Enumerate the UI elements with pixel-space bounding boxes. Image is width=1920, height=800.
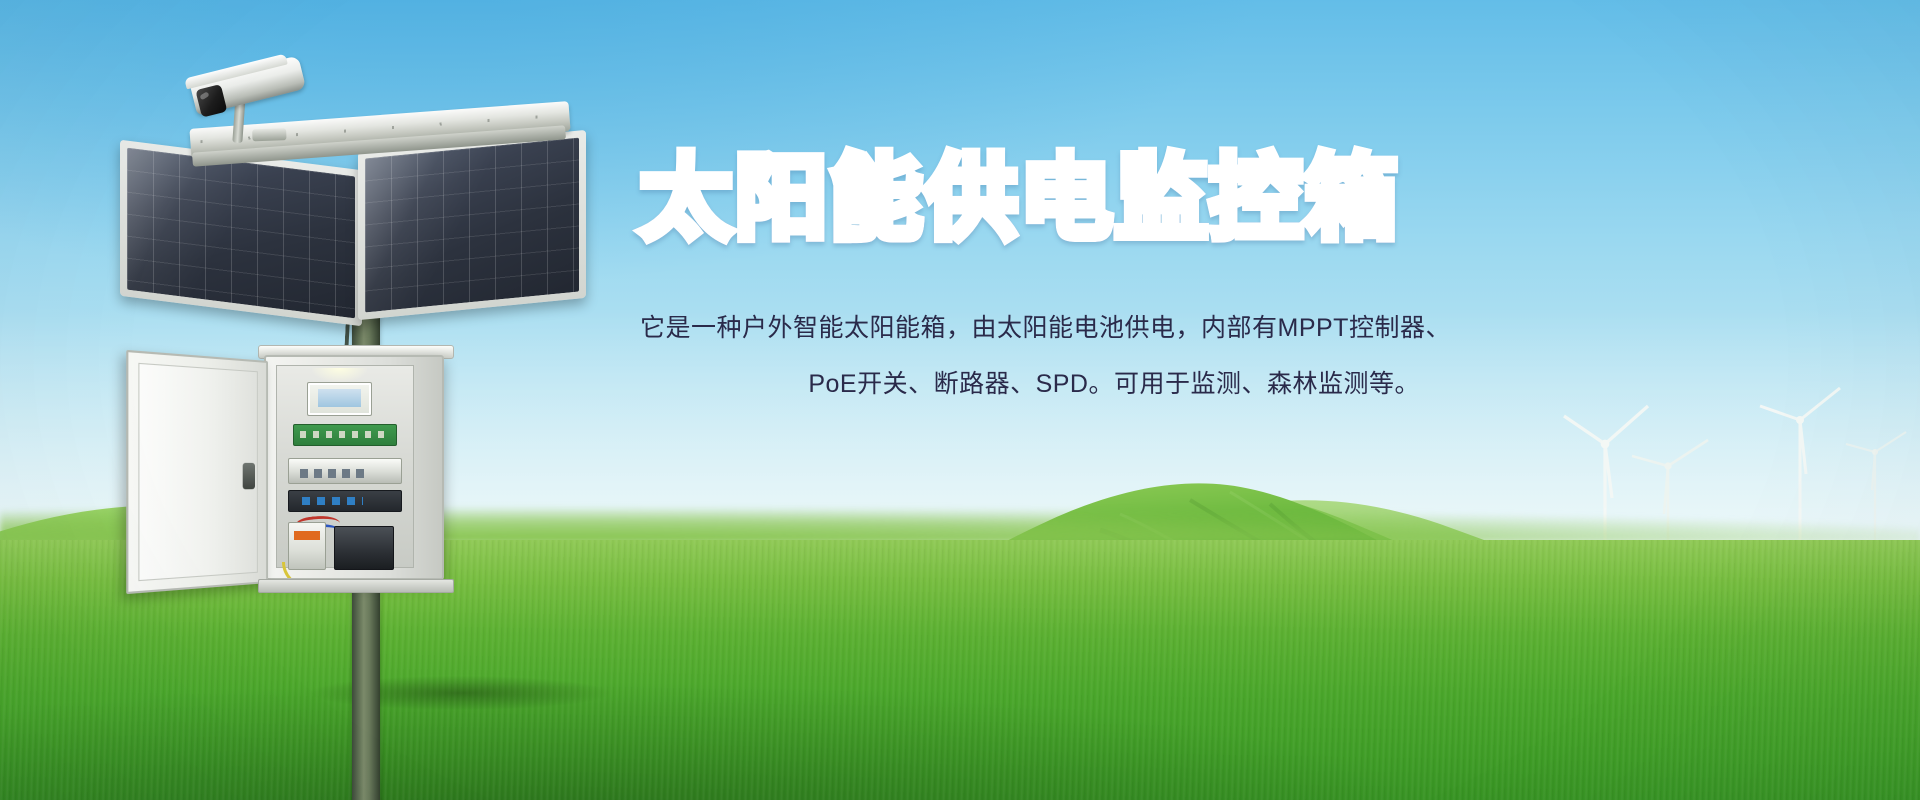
camera-bracket	[252, 128, 286, 141]
subtitle-line-2: PoE开关、断路器、SPD。可用于监测、森林监测等。	[640, 356, 1420, 412]
yellow-wire	[282, 562, 317, 580]
terminal-block-module	[293, 424, 396, 446]
interior-light	[312, 368, 366, 382]
headline-block: 太阳能供电监控箱	[620, 150, 1420, 249]
poe-switch-module	[288, 458, 402, 484]
page-title: 太阳能供电监控箱	[620, 150, 1420, 249]
solar-panel-left	[120, 140, 362, 327]
hero-banner: 太阳能供电监控箱 它是一种户外智能太阳能箱，由太阳能电池供电，内部有MPPT控制…	[0, 0, 1920, 800]
network-switch-module	[288, 490, 402, 512]
solar-cells	[127, 148, 355, 319]
cabinet-interior	[276, 365, 414, 568]
battery-unit	[334, 526, 394, 570]
product-photo	[100, 55, 660, 675]
cabinet-door-panel	[138, 363, 257, 581]
solar-power-cabinet	[106, 355, 526, 605]
subtitle-block: 它是一种户外智能太阳能箱，由太阳能电池供电，内部有MPPT控制器、 PoE开关、…	[640, 300, 1420, 412]
solar-panel-right	[358, 130, 586, 320]
cabinet-door	[126, 350, 268, 594]
ground-shadow	[250, 669, 670, 717]
mppt-controller-display	[307, 382, 372, 416]
subtitle-line-1: 它是一种户外智能太阳能箱，由太阳能电池供电，内部有MPPT控制器、	[640, 300, 1420, 356]
camera-lens	[195, 84, 227, 117]
solar-cells	[365, 138, 579, 313]
cabinet-enclosure	[264, 355, 444, 580]
camera-arm	[232, 100, 245, 143]
cabinet-base	[258, 579, 454, 593]
cabinet-lock	[243, 463, 255, 489]
